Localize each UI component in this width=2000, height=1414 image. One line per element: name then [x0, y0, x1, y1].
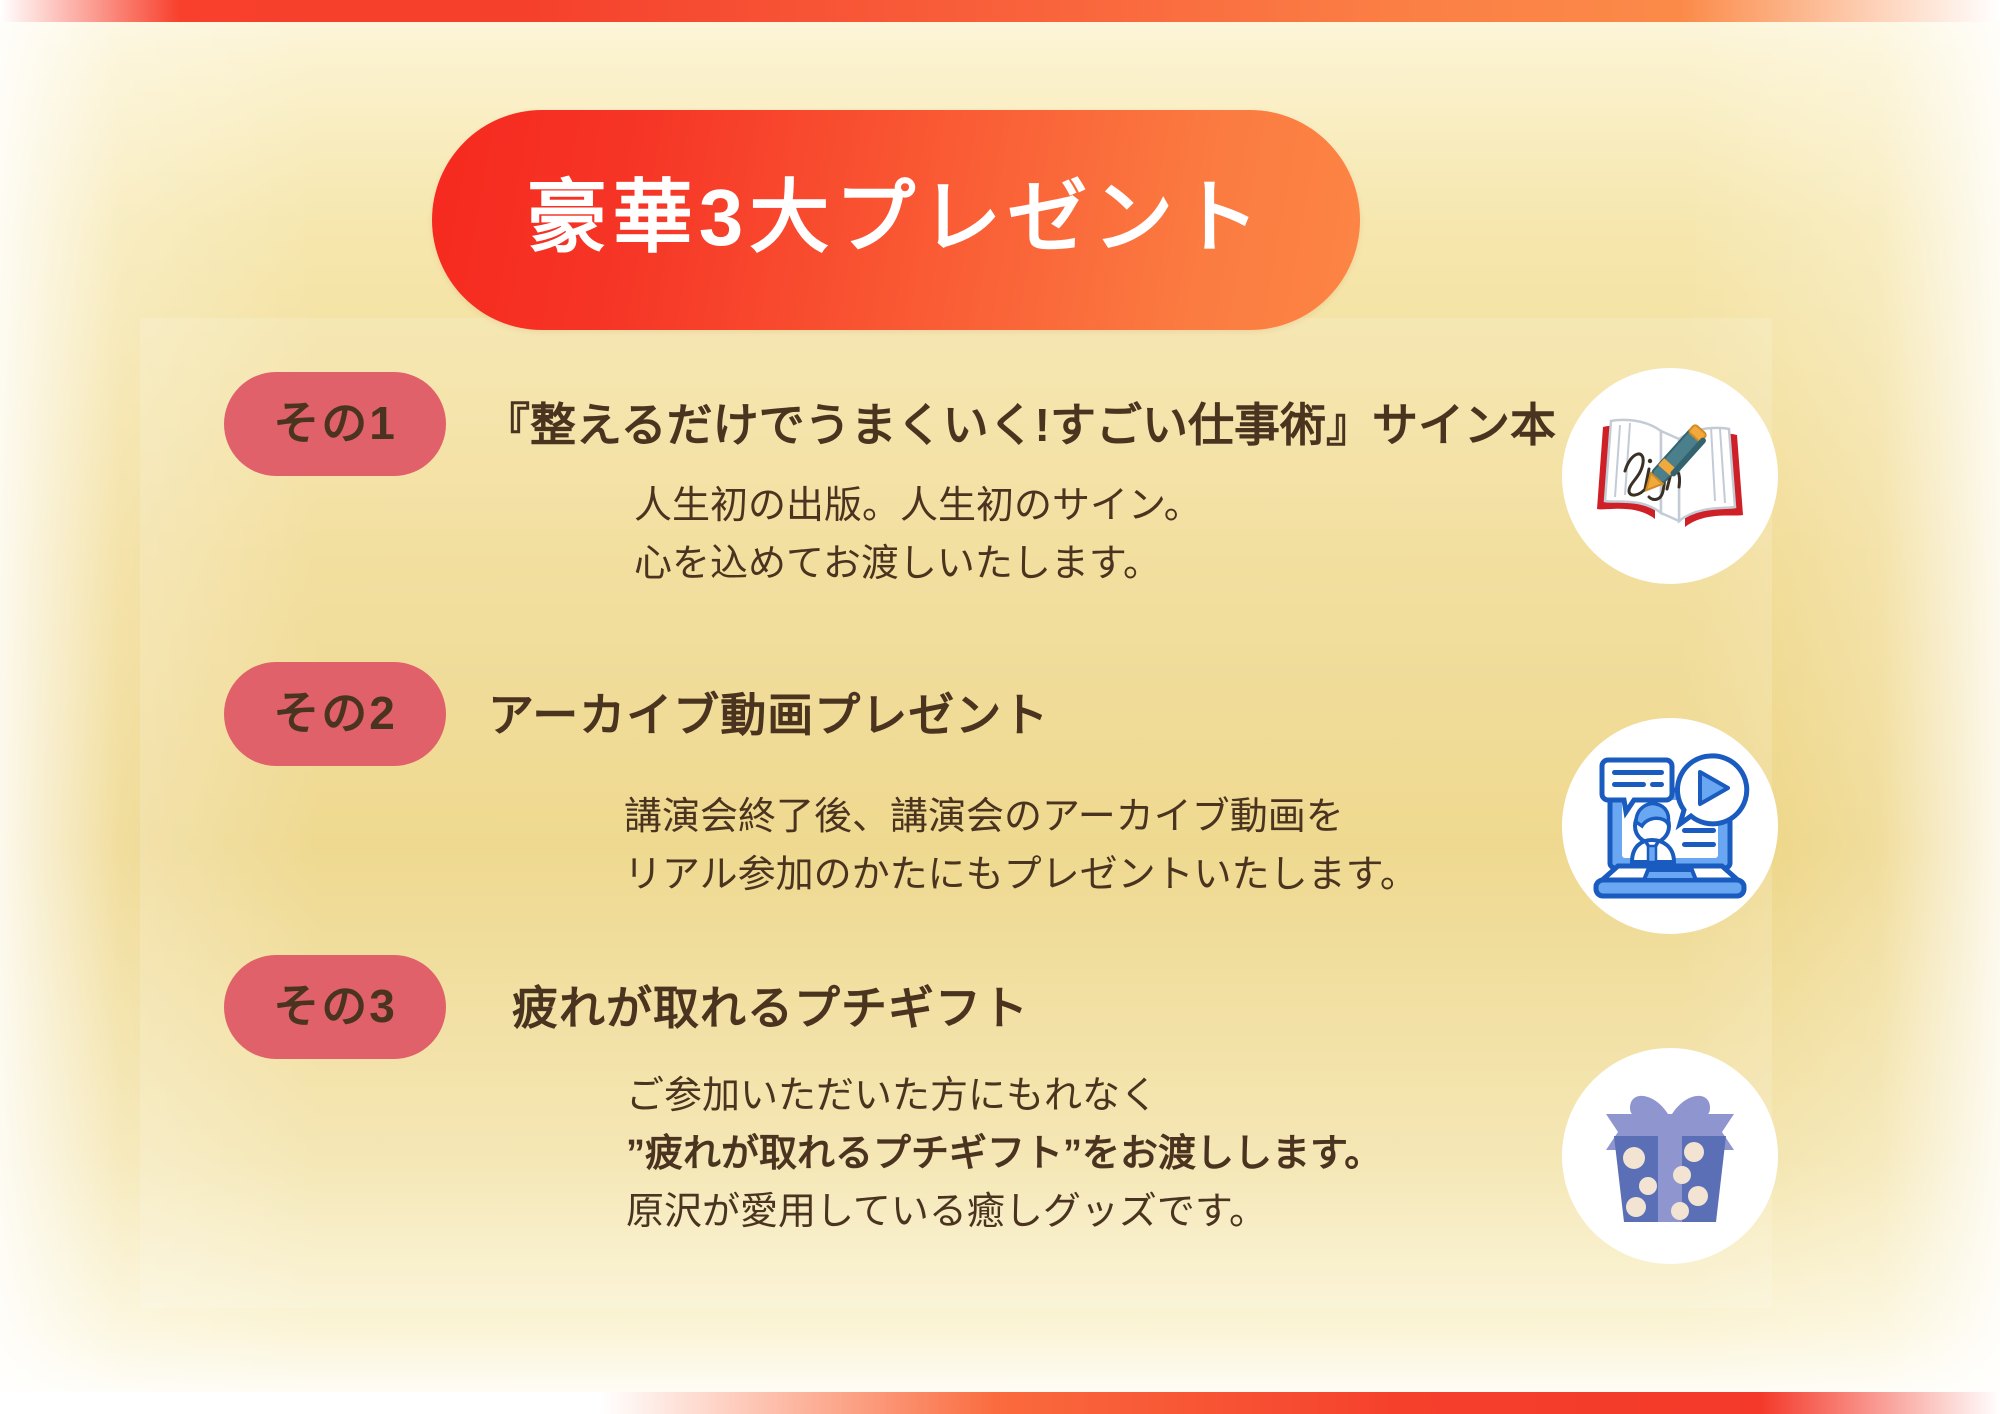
- gift-box-glyph: [1590, 1076, 1750, 1236]
- badge-item-1-label: その1: [273, 400, 397, 446]
- desc-item-2-line-2: リアル参加のかたにもプレゼントいたします。: [624, 847, 1418, 905]
- desc-item-3-line-2: ”疲れが取れるプチギフト”をお渡しします。: [626, 1126, 1382, 1184]
- bottom-accent-bar: [0, 1392, 2000, 1414]
- heading-item-2: アーカイブ動画プレゼント: [488, 690, 1049, 741]
- signed-book-icon: [1562, 368, 1778, 584]
- desc-item-2-line-1: 講演会終了後、講演会のアーカイブ動画を: [624, 789, 1344, 847]
- signed-book-glyph: [1585, 391, 1755, 561]
- top-accent-bar: [0, 0, 2000, 22]
- badge-item-3: その3: [224, 955, 446, 1059]
- desc-item-3-line-1: ご参加いただいた方にもれなく: [626, 1068, 1158, 1126]
- archive-video-icon: [1562, 718, 1778, 934]
- heading-item-3: 疲れが取れるプチギフト: [512, 983, 1029, 1034]
- badge-item-2: その2: [224, 662, 446, 766]
- heading-item-1: 『整えるだけでうまくいく!すごい仕事術』サイン本: [484, 400, 1556, 451]
- gift-box-icon: [1562, 1048, 1778, 1264]
- desc-item-1-line-2: 心を込めてお渡しいたします。: [634, 536, 1161, 594]
- badge-item-1: その1: [224, 372, 446, 476]
- poster-background: 豪華3大プレゼント その1 『整えるだけでうまくいく!すごい仕事術』サイン本 人…: [0, 0, 2000, 1414]
- desc-item-3-line-3: 原沢が愛用している癒しグッズです。: [626, 1184, 1267, 1242]
- archive-video-glyph: [1586, 742, 1754, 910]
- badge-item-3-label: その3: [273, 983, 397, 1029]
- badge-item-2-label: その2: [273, 690, 397, 736]
- desc-item-1-line-1: 人生初の出版。人生初のサイン。: [634, 478, 1202, 536]
